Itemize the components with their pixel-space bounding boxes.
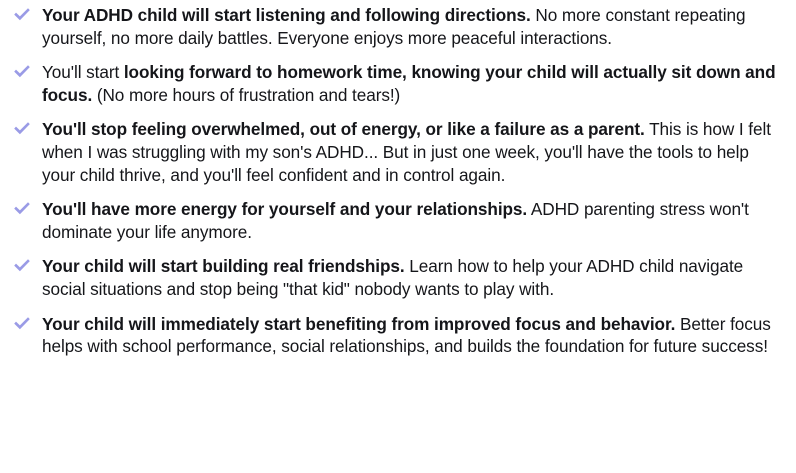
- list-item-text: Your child will immediately start benefi…: [42, 313, 777, 358]
- check-icon: [11, 313, 33, 335]
- list-item-bold: Your child will immediately start benefi…: [42, 314, 675, 334]
- list-item-text: You'll have more energy for yourself and…: [42, 198, 777, 243]
- check-icon: [11, 255, 33, 277]
- list-item-rest: (No more hours of frustration and tears!…: [92, 85, 400, 105]
- list-item: Your child will start building real frie…: [0, 255, 796, 300]
- list-item: You'll stop feeling overwhelmed, out of …: [0, 118, 796, 186]
- check-icon: [11, 4, 33, 26]
- list-item-text: You'll stop feeling overwhelmed, out of …: [42, 118, 777, 186]
- list-item-bold: Your ADHD child will start listening and…: [42, 5, 531, 25]
- benefits-list: Your ADHD child will start listening and…: [0, 0, 796, 358]
- list-item-text: Your child will start building real frie…: [42, 255, 777, 300]
- list-item-bold: Your child will start building real frie…: [42, 256, 405, 276]
- list-item: Your ADHD child will start listening and…: [0, 4, 796, 49]
- check-icon: [11, 198, 33, 220]
- list-item: You'll have more energy for yourself and…: [0, 198, 796, 243]
- list-item-text: You'll start looking forward to homework…: [42, 61, 777, 106]
- list-item: You'll start looking forward to homework…: [0, 61, 796, 106]
- list-item-lead: You'll start: [42, 62, 124, 82]
- check-icon: [11, 118, 33, 140]
- list-item-text: Your ADHD child will start listening and…: [42, 4, 777, 49]
- check-icon: [11, 61, 33, 83]
- list-item-bold: You'll have more energy for yourself and…: [42, 199, 527, 219]
- list-item-bold: You'll stop feeling overwhelmed, out of …: [42, 119, 645, 139]
- list-item: Your child will immediately start benefi…: [0, 313, 796, 358]
